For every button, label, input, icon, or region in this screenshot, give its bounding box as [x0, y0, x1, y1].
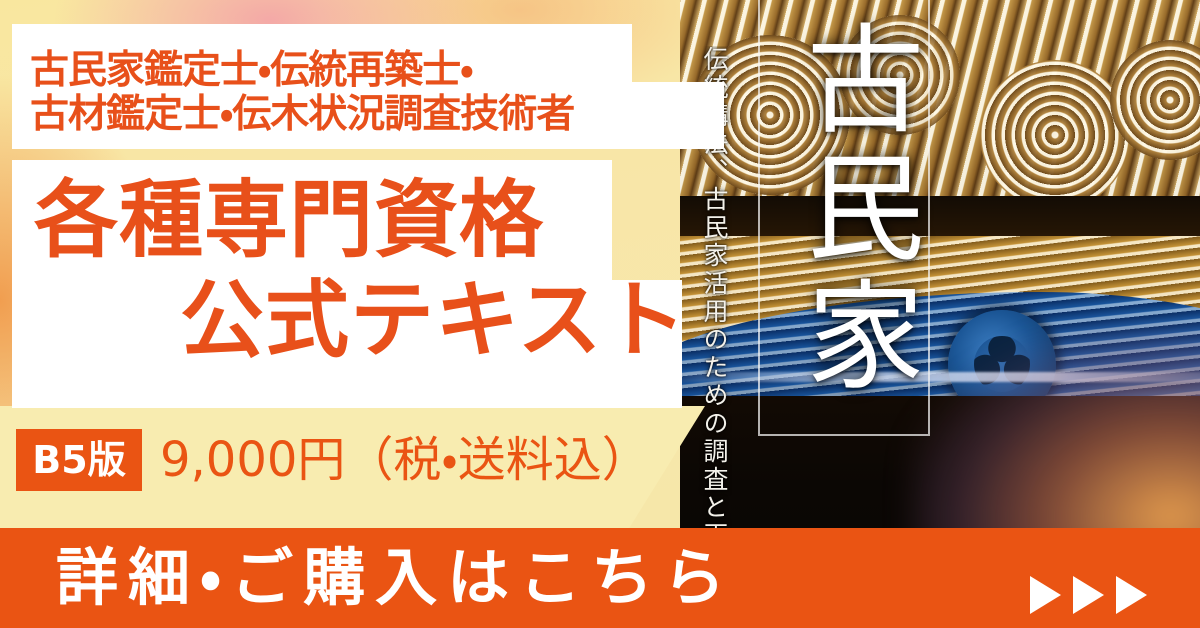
headline-line-1: 各種専門資格	[34, 178, 544, 262]
cta-label: 詳細・ご購入はこちら	[56, 544, 735, 612]
cta-button-bar[interactable]: 詳細・ご購入はこちら	[0, 528, 1200, 628]
cta-arrow-group	[1030, 576, 1147, 614]
certifications-card: 古民家鑑定士・伝統再築士・ 古材鑑定士・伝木状況調査技術者	[12, 24, 724, 149]
chevron-right-icon	[1116, 576, 1147, 614]
headline-card: 各種専門資格 公式テキスト	[12, 160, 682, 408]
wood-curl-ornament	[980, 60, 1130, 210]
promo-banner: 伝統構法、古民家活用のための調査と再生の 古民家 古民家鑑定士・伝統再築士・ 古…	[0, 0, 1200, 628]
price-amount: 9,000円（税・送料込）	[160, 430, 650, 490]
chevron-right-icon	[1030, 576, 1061, 614]
size-badge-label: B5版	[32, 441, 125, 479]
headline-line-2: 公式テキスト	[180, 278, 687, 362]
size-badge: B5版	[16, 429, 142, 491]
book-cover-title: 古民家	[766, 18, 922, 428]
chevron-right-icon	[1073, 576, 1104, 614]
certifications-text: 古民家鑑定士・伝統再築士・ 古材鑑定士・伝木状況調査技術者	[30, 49, 574, 136]
